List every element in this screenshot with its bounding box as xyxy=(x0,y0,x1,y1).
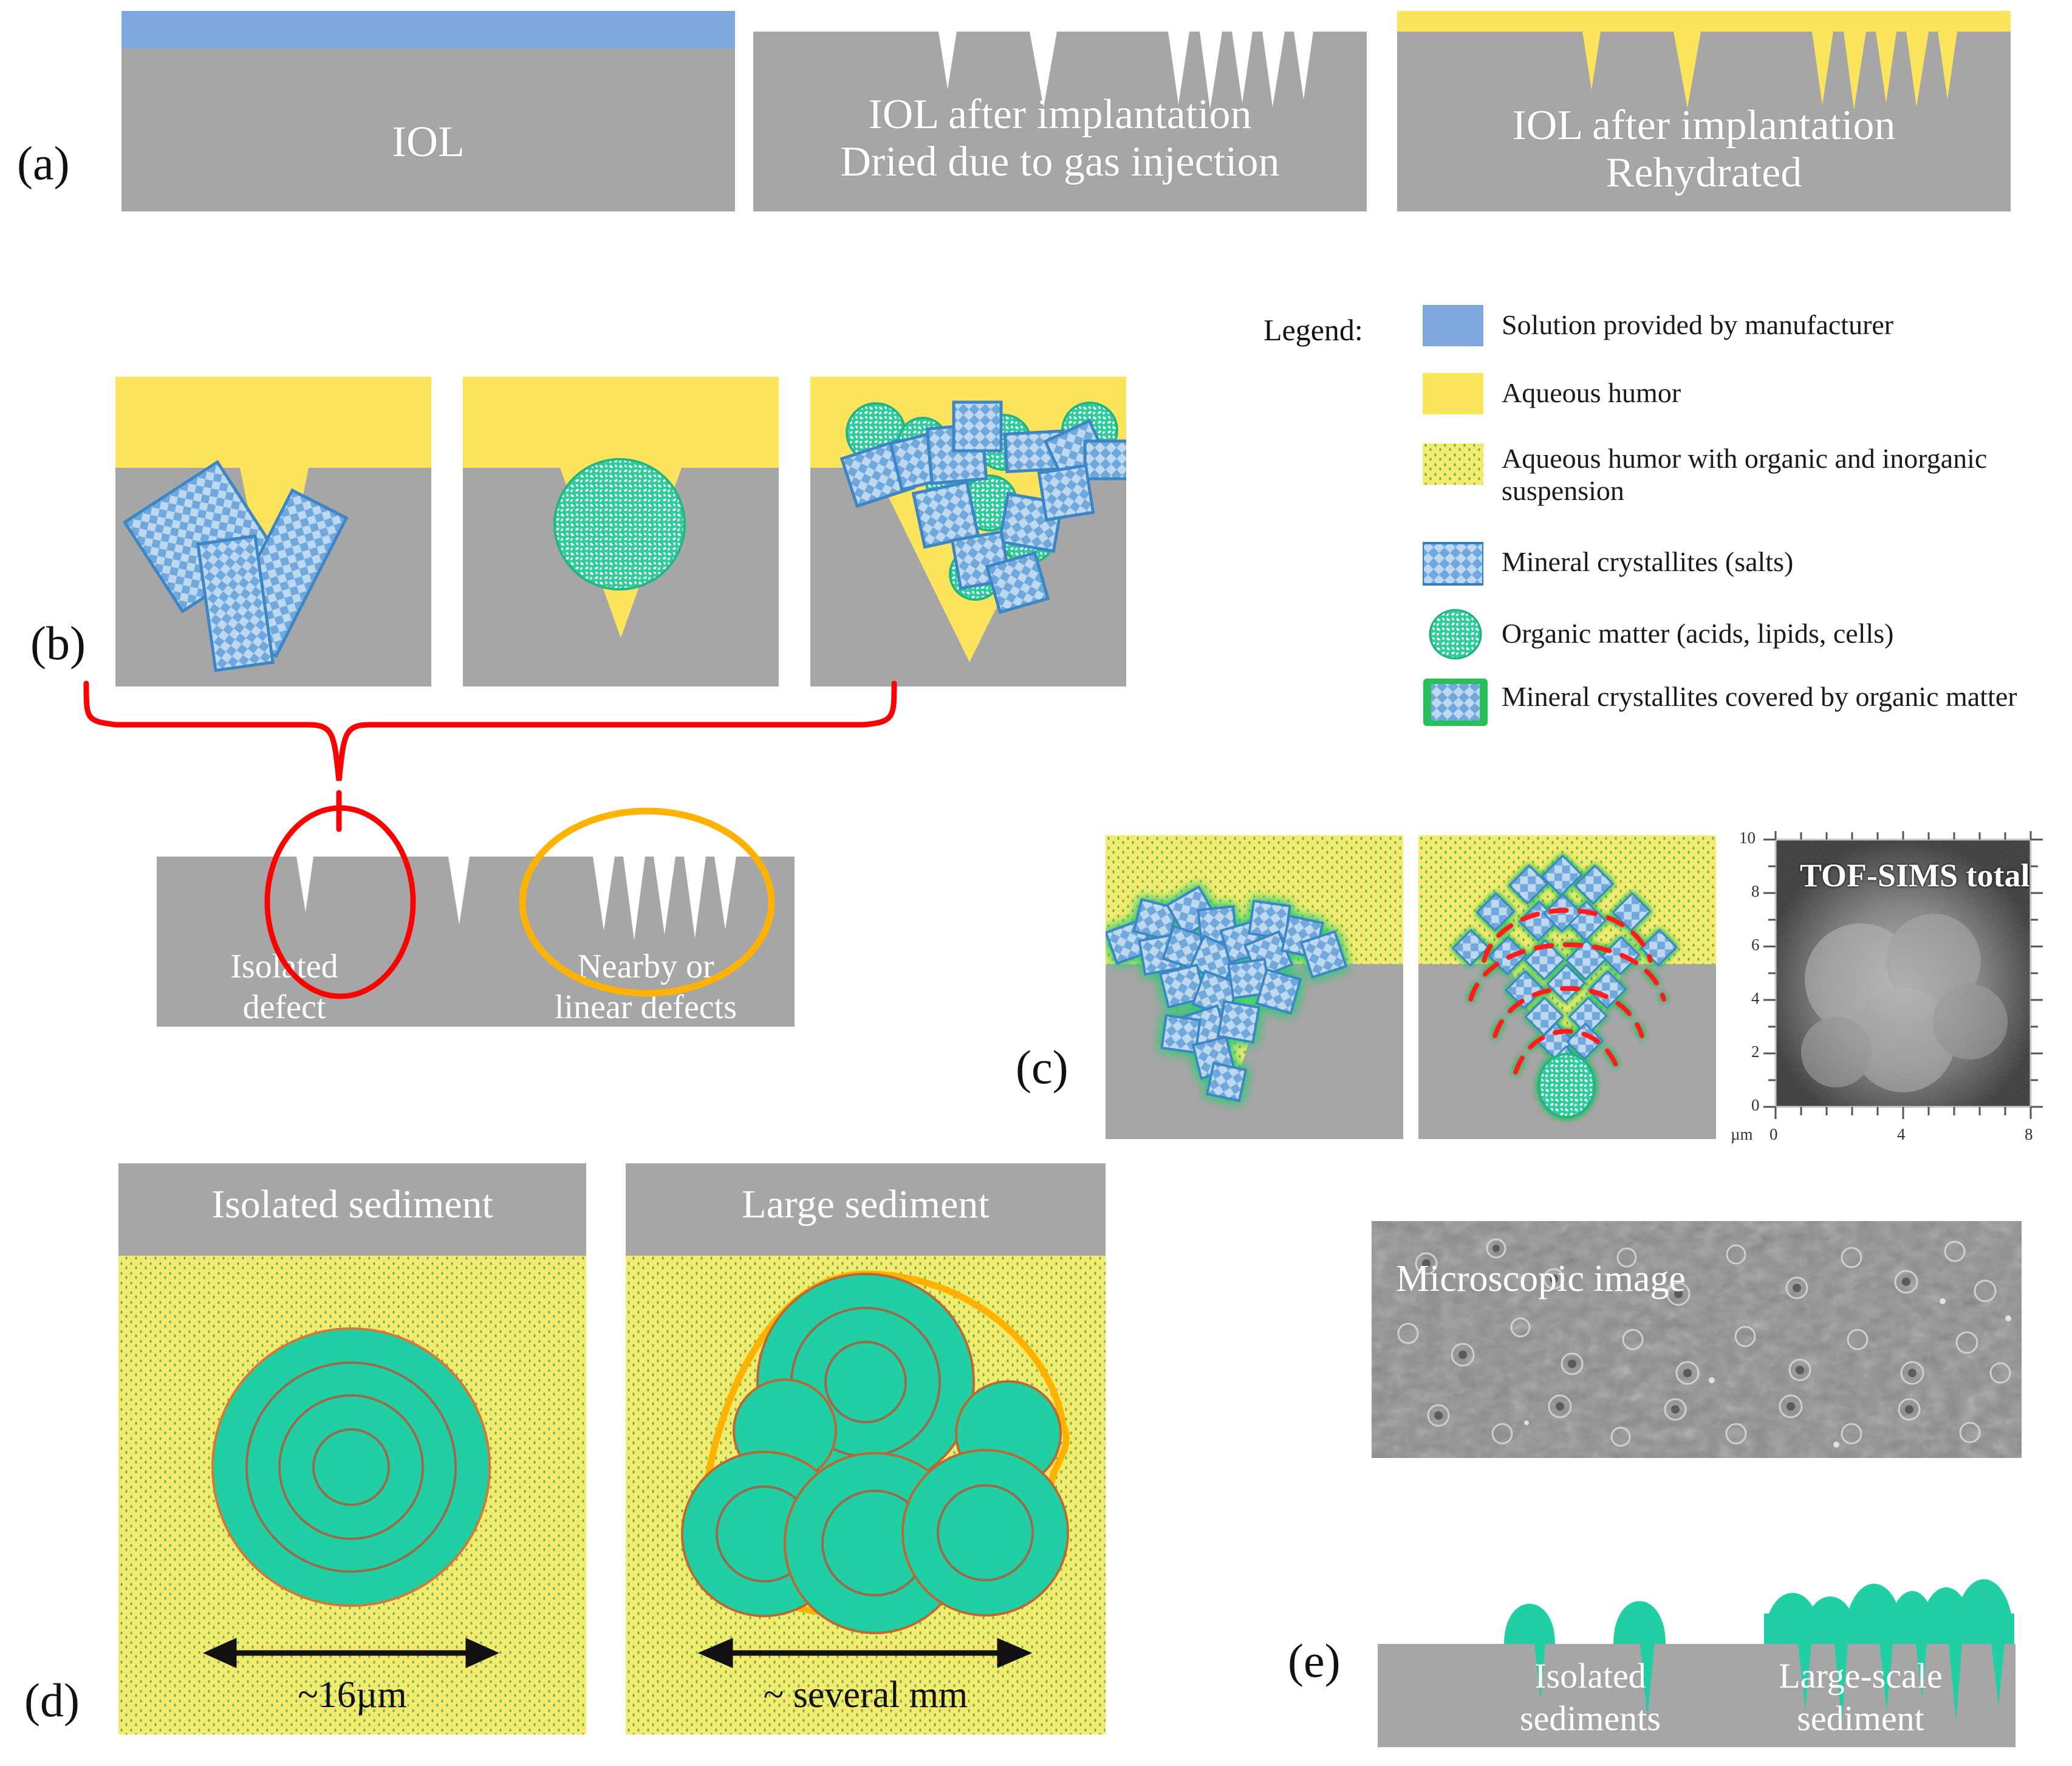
suspension-swatch xyxy=(1423,442,1483,486)
panel-c-sub-2 xyxy=(1418,835,1716,1139)
legend-item-crystallite xyxy=(1423,542,1483,586)
tofsims-ytick-6: 6 xyxy=(1751,936,1760,954)
tofsims-ytick-8: 8 xyxy=(1751,882,1760,901)
crystallite-swatch xyxy=(1423,542,1483,586)
tofsims-ytick-0: 0 xyxy=(1751,1096,1760,1115)
isolated-sediments-label: Isolated sediments xyxy=(1475,1655,1706,1739)
tofsims-ytick-10: 10 xyxy=(1739,829,1756,847)
panel-b-label: (b) xyxy=(30,620,86,667)
legend-label-aqueous: Aqueous humor xyxy=(1502,377,2060,409)
panel-a-label: (a) xyxy=(17,140,70,187)
panel-a-block-1: IOL xyxy=(121,11,735,211)
panel-c-label: (c) xyxy=(1016,1044,1068,1091)
panel-b-sub-1 xyxy=(115,377,431,686)
legend-label-organic: Organic matter (acids, lipids, cells) xyxy=(1502,617,2072,649)
legend-title: Legend: xyxy=(1263,312,1363,347)
isolated-sediment-scale: ~16µm xyxy=(118,1672,586,1717)
microscopic-image-title: Microscopic image xyxy=(1396,1258,1686,1301)
covered-crystallite-swatch xyxy=(1420,676,1491,729)
organic-swatch xyxy=(1426,607,1485,660)
isolated-sediment-title: Isolated sediment xyxy=(118,1180,586,1228)
legend-label-crystallite: Mineral crystallites (salts) xyxy=(1502,546,2060,578)
large-scale-sediment-label: Large-scale sediment xyxy=(1730,1655,1991,1739)
large-sediment-scale: ~ several mm xyxy=(626,1672,1106,1717)
isolated-defect-circle xyxy=(261,802,419,1002)
legend-item-aqueous xyxy=(1423,372,1483,416)
large-sediment-title: Large sediment xyxy=(626,1180,1106,1228)
panel-e-label: (e) xyxy=(1288,1637,1341,1685)
tofsims-panel: TOF-SIMS total 10 8 6 4 2 0 µm 0 4 8 xyxy=(1728,831,2056,1153)
tofsims-x-unit: µm xyxy=(1731,1125,1753,1144)
red-brace xyxy=(73,677,911,841)
legend-item-suspension xyxy=(1423,442,1483,486)
legend-item-organic xyxy=(1426,607,1485,660)
organic-sphere xyxy=(555,459,685,589)
tofsims-xtick-4: 4 xyxy=(1897,1125,1906,1144)
aqueous-swatch xyxy=(1423,372,1483,416)
solution-layer xyxy=(121,11,735,49)
panel-b-sub-2 xyxy=(463,377,779,686)
tofsims-ytick-2: 2 xyxy=(1751,1042,1760,1061)
legend-item-solution xyxy=(1423,304,1483,347)
tofsims-ytick-4: 4 xyxy=(1751,989,1760,1008)
legend-item-covered-crystallite xyxy=(1420,676,1491,729)
panel-a-block-2: IOL after implantation Dried due to gas … xyxy=(753,32,1367,211)
legend-label-suspension: Aqueous humor with organic and inorganic… xyxy=(1502,442,2036,507)
panel-b-sub-3 xyxy=(810,377,1126,686)
panel-a-block-3-title: IOL after implantation Rehydrated xyxy=(1397,102,2011,197)
panel-d-isolated-sediment: Isolated sediment ~16µm xyxy=(118,1163,586,1734)
legend-label-covered-crystallite: Mineral crystallites covered by organic … xyxy=(1502,680,2024,713)
panel-c-sub-1 xyxy=(1106,835,1403,1139)
panel-a-block-2-title: IOL after implantation Dried due to gas … xyxy=(753,91,1367,187)
solution-swatch xyxy=(1423,304,1483,347)
panel-d-large-sediment: Large sediment ~ several mm xyxy=(626,1163,1106,1734)
legend-label-solution: Solution provided by manufacturer xyxy=(1502,309,2060,341)
tofsims-xtick-0: 0 xyxy=(1769,1125,1778,1144)
panel-a-block-3: IOL after implantation Rehydrated xyxy=(1397,11,2011,211)
linear-defects-circle xyxy=(516,802,778,1002)
panel-e-sediment-profile: Isolated sediments Large-scale sediment xyxy=(1378,1547,2016,1747)
microscopic-image: Microscopic image xyxy=(1372,1221,2022,1458)
tofsims-title: TOF-SIMS total xyxy=(1800,857,2030,894)
tofsims-xtick-8: 8 xyxy=(2025,1125,2033,1144)
panel-a-block-1-title: IOL xyxy=(121,117,735,166)
panel-d-label: (d) xyxy=(24,1677,80,1724)
